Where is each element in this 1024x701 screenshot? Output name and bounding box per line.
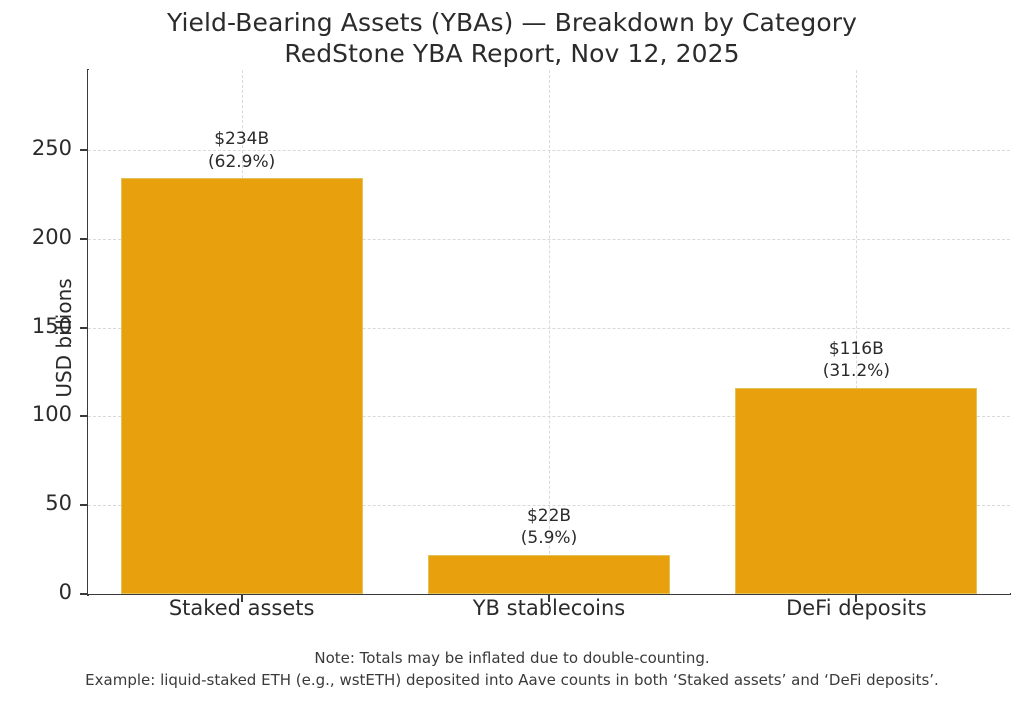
x-tick-label-staked-assets: Staked assets	[92, 596, 392, 620]
y-tick-mark	[80, 415, 88, 417]
x-tick-label-yb-stablecoins: YB stablecoins	[399, 596, 699, 620]
y-tick-mark	[80, 593, 88, 595]
y-tick-label: 100	[8, 402, 72, 426]
chart-figure: Yield-Bearing Assets (YBAs) — Breakdown …	[0, 0, 1024, 701]
y-tick-mark	[80, 238, 88, 240]
plot-area: USD billions $234B (62.9%)$22B (5.9%)$11…	[88, 70, 1010, 594]
footnote-line-1: Note: Totals may be inflated due to doub…	[0, 648, 1024, 670]
bar-defi-deposits[interactable]	[735, 388, 977, 594]
y-tick-mark	[80, 327, 88, 329]
bar-label-yb-stablecoins: $22B (5.9%)	[419, 505, 679, 550]
y-tick-label: 0	[8, 580, 72, 604]
x-tick-label-defi-deposits: DeFi deposits	[706, 596, 1006, 620]
y-tick-mark	[80, 149, 88, 151]
chart-subtitle: RedStone YBA Report, Nov 12, 2025	[0, 39, 1024, 70]
bar-label-staked-assets: $234B (62.9%)	[112, 128, 372, 173]
bar-staked-assets[interactable]	[121, 178, 363, 594]
y-tick-label: 150	[8, 314, 72, 338]
y-tick-label: 250	[8, 136, 72, 160]
chart-title: Yield-Bearing Assets (YBAs) — Breakdown …	[0, 8, 1024, 39]
y-axis-label: USD billions	[52, 278, 76, 397]
y-tick-label: 200	[8, 225, 72, 249]
y-tick-mark	[80, 504, 88, 506]
footnote-line-2: Example: liquid-staked ETH (e.g., wstETH…	[0, 670, 1024, 692]
y-tick-label: 50	[8, 491, 72, 515]
bar-label-defi-deposits: $116B (31.2%)	[726, 338, 986, 383]
chart-title-block: Yield-Bearing Assets (YBAs) — Breakdown …	[0, 8, 1024, 69]
chart-footnote: Note: Totals may be inflated due to doub…	[0, 648, 1024, 692]
bar-yb-stablecoins[interactable]	[428, 555, 670, 594]
